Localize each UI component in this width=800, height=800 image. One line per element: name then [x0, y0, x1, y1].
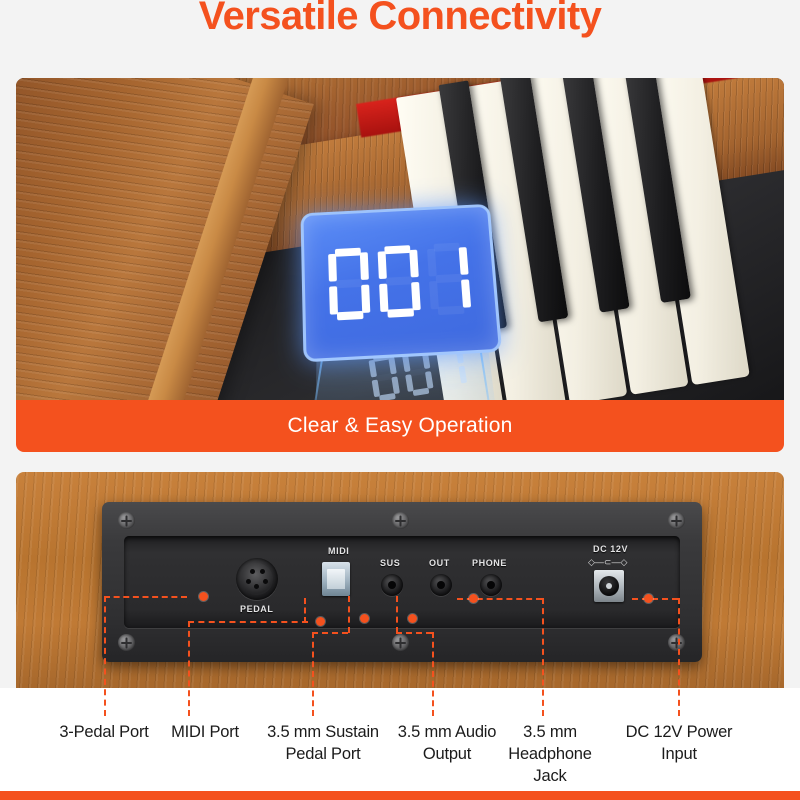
- callout-dot-phone: [469, 594, 478, 603]
- seg-digit-0: [377, 245, 421, 318]
- usb-inner: [327, 569, 345, 589]
- callout-line-sustain-v2: [312, 632, 314, 716]
- screw-icon: [392, 512, 409, 529]
- callout-line-midi-v2: [188, 621, 190, 716]
- page-title: Versatile Connectivity: [0, 0, 800, 46]
- callout-dot-midi: [316, 617, 325, 626]
- callout-dot-dc: [644, 594, 653, 603]
- bottom-accent-strip: [0, 791, 800, 800]
- display-caption-text: Clear & Easy Operation: [287, 414, 512, 438]
- callout-label-strip: 3-Pedal Port MIDI Port 3.5 mm Sustain Pe…: [0, 688, 800, 792]
- callout-line-audio-h: [396, 632, 432, 634]
- sus-port-label: SUS: [380, 558, 400, 568]
- midi-usb-port[interactable]: [322, 562, 350, 596]
- screw-icon: [668, 634, 685, 651]
- callout-label-midi: MIDI Port: [150, 721, 260, 743]
- display-photo-panel: DEMO RHYTHM VOLUME TONE: [16, 78, 784, 450]
- screw-icon: [668, 512, 685, 529]
- callout-dot-sustain: [360, 614, 369, 623]
- keyboard-scene: DEMO RHYTHM VOLUME TONE: [16, 78, 784, 450]
- dc-hole: [599, 576, 619, 596]
- midi-port-label: MIDI: [328, 546, 349, 556]
- callout-label-headphone: 3.5 mm Headphone Jack: [496, 721, 604, 787]
- callout-line-sustain-v1: [348, 596, 350, 633]
- callout-line-pedal-h: [104, 596, 187, 598]
- sustain-jack-port[interactable]: [381, 574, 403, 596]
- callout-line-sustain-h: [312, 632, 348, 634]
- callout-line-audio-v1: [396, 596, 398, 633]
- seg-digit-0: [328, 247, 371, 320]
- callout-line-midi-v1: [304, 598, 306, 623]
- ports-photo-panel: PEDAL MIDI SUS OUT PHONE DC 12V ◇—⊂—◇: [16, 472, 784, 688]
- port-recess: PEDAL MIDI SUS OUT PHONE DC 12V ◇—⊂—◇: [124, 536, 680, 628]
- callout-label-dc-power: DC 12V Power Input: [612, 721, 746, 765]
- callout-label-sustain: 3.5 mm Sustain Pedal Port: [254, 721, 392, 765]
- dc-polarity-icon: ◇—⊂—◇: [588, 557, 627, 568]
- dc-power-port[interactable]: [594, 570, 624, 602]
- callout-label-pedal: 3-Pedal Port: [44, 721, 164, 743]
- callout-line-phone-v: [542, 598, 544, 716]
- led-magnifier-callout: [300, 204, 502, 363]
- screw-icon: [392, 634, 409, 651]
- seg-digit-1: [427, 242, 472, 315]
- audio-out-jack-port[interactable]: [430, 574, 452, 596]
- out-port-label: OUT: [429, 558, 450, 568]
- callout-dot-audio-out: [408, 614, 417, 623]
- screw-icon: [118, 512, 135, 529]
- callout-line-pedal-v: [104, 596, 106, 716]
- callout-dot-pedal: [199, 592, 208, 601]
- port-plate: PEDAL MIDI SUS OUT PHONE DC 12V ◇—⊂—◇: [102, 502, 702, 662]
- pedal-din-port[interactable]: [236, 558, 278, 600]
- headphone-jack-port[interactable]: [480, 574, 502, 596]
- screw-icon: [118, 634, 135, 651]
- display-caption-bar: Clear & Easy Operation: [16, 400, 784, 452]
- callout-line-midi-h: [188, 621, 308, 623]
- dc-power-label: DC 12V: [593, 544, 628, 554]
- din-inner: [241, 563, 273, 595]
- product-feature-page: Versatile Connectivity: [0, 0, 800, 800]
- callout-line-dc-h: [632, 598, 678, 600]
- phone-port-label: PHONE: [472, 558, 507, 568]
- callout-label-audio-output: 3.5 mm Audio Output: [388, 721, 506, 765]
- pedal-port-label: PEDAL: [240, 604, 274, 614]
- callout-line-audio-v2: [432, 632, 434, 716]
- callout-line-dc-v: [678, 598, 680, 716]
